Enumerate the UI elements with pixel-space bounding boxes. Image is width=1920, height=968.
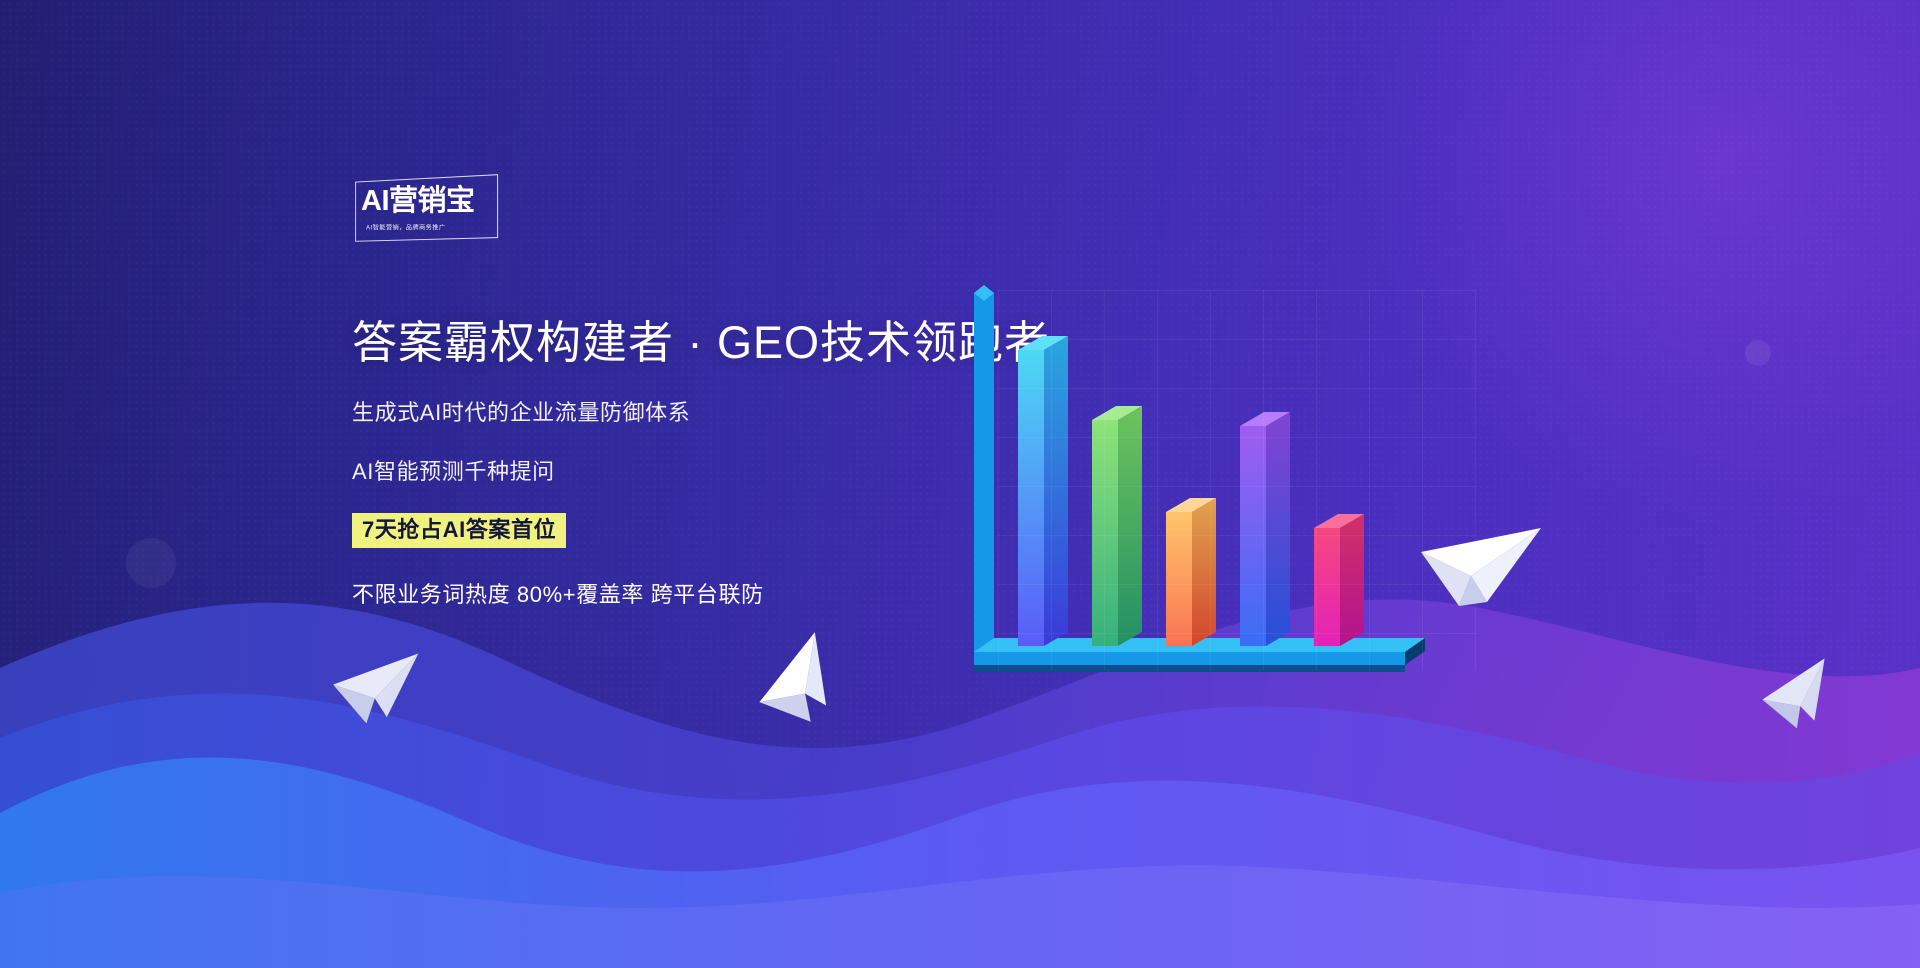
chart-y-axis (974, 285, 994, 652)
chart-bar-5 (1314, 514, 1364, 646)
circle-decoration (1745, 340, 1771, 366)
chart-bar-1 (1018, 336, 1068, 646)
hero-banner: AI营销宝 AI智能营销，品牌商务推广 答案霸权构建者 · GEO技术领跑者 生… (0, 0, 1920, 968)
chart-bar-4 (1240, 412, 1290, 646)
highlight-badge: 7天抢占AI答案首位 (352, 513, 566, 548)
brand-logo[interactable]: AI营销宝 AI智能营销，品牌商务推广 (352, 178, 497, 240)
bar-chart-illustration (960, 280, 1520, 690)
chart-bar-2 (1092, 406, 1142, 646)
chart-svg (960, 280, 1520, 690)
logo-tagline: AI智能营销，品牌商务推广 (366, 222, 487, 232)
paper-plane-icon (1415, 510, 1545, 620)
chart-bar-3 (1166, 498, 1216, 646)
paper-plane-icon (326, 643, 429, 737)
logo-wordmark: AI营销宝 (361, 187, 493, 216)
